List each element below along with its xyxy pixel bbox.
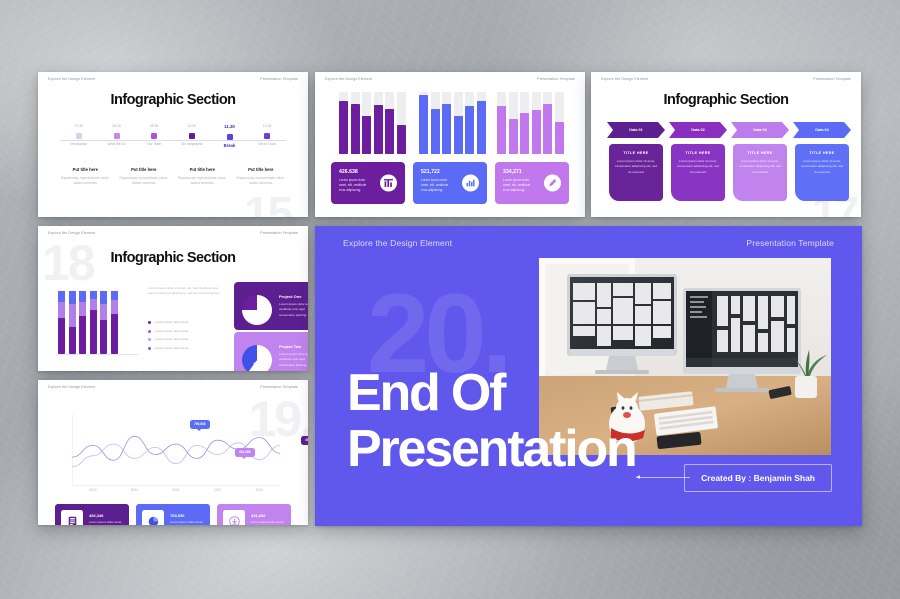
slide-header: Explore the Design Element Presentation … [48, 77, 298, 81]
x-axis-tick-2: 2020 [131, 488, 138, 492]
metric-text: 452,346Lorem ipsum dolor amet, elit, ves… [89, 513, 123, 525]
header-left-label: Explore the Design Element [48, 77, 95, 81]
bullet-dot-icon [148, 321, 151, 324]
step-title: TITLE HERE [800, 151, 844, 155]
bar-segment-middle [111, 300, 118, 314]
pie-chart-icon: 75% [242, 295, 272, 325]
step-description: Lorem ipsum dolor sit amet, consectetur … [738, 159, 782, 175]
stat-description: Lorem ipsum dolor amet, elit, vestibule … [421, 178, 453, 193]
timeline-marker-icon [151, 133, 157, 139]
bullet-item-2: Lorem ipsum dolor amet, [148, 329, 226, 333]
x-axis-tick-5: 2023 [256, 488, 263, 492]
project-name: Project One [279, 294, 308, 299]
bar-segment-middle [58, 302, 65, 317]
header-right-label: Presentation Template [260, 77, 298, 81]
metric-value: 452,346 [89, 513, 123, 518]
metric-description: Lorem ipsum dolor amet, elit, vestibule … [89, 520, 123, 525]
metric-description: Lorem ipsum dolor amet, elit, vestibule … [251, 520, 285, 525]
bar-track [362, 92, 371, 154]
pencil-icon [544, 175, 561, 192]
x-axis-tick-3: 2021 [172, 488, 179, 492]
chart-baseline [56, 354, 138, 355]
bar-fill [555, 122, 564, 154]
stacked-bar-4 [90, 284, 97, 354]
bar-fill [520, 113, 529, 154]
chart-tooltip-1: 769,536 [190, 420, 210, 429]
metric-card-row: 452,346Lorem ipsum dolor amet, elit, ves… [55, 504, 291, 525]
bar-fill [351, 104, 360, 154]
title-line-1: End Of [347, 366, 636, 422]
timeline-time: 12.30 [245, 124, 289, 128]
bar-track [465, 92, 474, 154]
header-right-label: Presentation Template [537, 77, 575, 81]
column-title: Put title here [60, 167, 111, 172]
bar-segment-bottom [69, 327, 76, 354]
project-text: Project OneLorem ipsum dolor amet, elit.… [279, 290, 308, 330]
bar-chart-icon [380, 175, 397, 192]
timeline-node-6[interactable]: 12.30Get In Touch [245, 124, 289, 146]
bullet-item-3: Lorem ipsum dolor amet, [148, 337, 226, 341]
header-right-label: Presentation Template [260, 385, 298, 389]
bar-track [520, 92, 529, 154]
bar-fill [543, 104, 552, 154]
slide-thumbnail-process-steps[interactable]: Explore the Design Element Presentation … [591, 72, 861, 217]
step-title: TITLE HERE [676, 151, 720, 155]
bar-fill [431, 109, 440, 154]
bar-segment-bottom [100, 320, 107, 354]
bar-track [477, 92, 486, 154]
bar-segment-middle [69, 304, 76, 328]
line-chart: 769,536331,666452,346 [72, 414, 280, 486]
bar-group-3 [497, 92, 564, 154]
bar-segment-bottom [90, 310, 97, 354]
slide-thumbnail-bar-stats[interactable]: Explore the Design Element Presentation … [315, 72, 585, 217]
step-title: TITLE HERE [738, 151, 782, 155]
chart-tooltip-2: 331,666 [235, 448, 255, 457]
timeline-marker-icon [189, 133, 195, 139]
step-tag-4[interactable]: Data 04 [793, 122, 851, 138]
bar-fill [397, 125, 406, 154]
stacked-bar-1 [58, 284, 65, 354]
timeline-marker-icon [264, 133, 270, 139]
column-description: Rapaciously myocardinate value-added sch… [177, 176, 228, 186]
column-description: Rapaciously myocardinate value-added sch… [60, 176, 111, 186]
stacked-bar-2 [69, 284, 76, 354]
bullet-dot-icon [148, 330, 151, 333]
bar-fill [532, 110, 541, 154]
header-right-label: Presentation Template [813, 77, 851, 81]
chart-tooltip-3: 452,346 [301, 436, 308, 445]
bar-fill [442, 104, 451, 154]
timeline-column-3: Put title hereRapaciously myocardinate v… [173, 167, 232, 186]
x-axis-tick-4: 2022 [214, 488, 221, 492]
author-byline[interactable]: Created By : Benjamin Shah [684, 464, 832, 492]
bar-track [454, 92, 463, 154]
timeline: 07.30Introduction08.30What We Do09.30Our… [60, 124, 286, 158]
bar-track [374, 92, 383, 154]
project-card-1[interactable]: 75%Project OneLorem ipsum dolor amet, el… [234, 282, 308, 330]
bar-track [442, 92, 451, 154]
slide-header: Explore the Design Element Presentation … [48, 385, 298, 389]
tooltip-value: 331,666 [239, 450, 251, 454]
timeline-column-2: Put title hereRapaciously myocardinate v… [115, 167, 174, 186]
bar-track [555, 92, 564, 154]
bar-track [339, 92, 348, 154]
bar-segment-top [58, 291, 65, 302]
project-description: Lorem ipsum dolor amet, elit. vestibule … [279, 352, 308, 368]
header-left-label: Explore the Design Element [343, 238, 452, 248]
metric-card-2[interactable]: 769,536Lorem ipsum dolor amet, elit, ves… [136, 504, 210, 525]
column-title: Put title here [236, 167, 287, 172]
step-description: Lorem ipsum dolor sit amet, consectetur … [800, 159, 844, 175]
timeline-marker-icon [227, 134, 233, 140]
bar-segment-top [100, 291, 107, 304]
bar-fill [465, 106, 474, 154]
pie-percent: 75% [242, 312, 272, 316]
bar-group-2 [419, 92, 486, 154]
bar-fill [509, 119, 518, 154]
bar-fill [339, 101, 348, 154]
bar-track [509, 92, 518, 154]
bar-track [385, 92, 394, 154]
tooltip-value: 452,346 [305, 438, 308, 442]
step-description: Lorem ipsum dolor sit amet, consectetur … [614, 159, 658, 175]
slide-thumbnail-projects[interactable]: Explore the Design Element Presentation … [38, 226, 308, 371]
download-icon [223, 510, 245, 525]
timeline-column-1: Put title hereRapaciously myocardinate v… [56, 167, 115, 186]
page-title: End Of Presentation [347, 366, 636, 477]
title-line-2: Presentation [347, 422, 636, 478]
bar-fill [497, 106, 506, 154]
bar-track [431, 92, 440, 154]
metric-value: 331,666 [251, 513, 285, 518]
project-description: Lorem ipsum dolor amet, elit. vestibule … [279, 302, 308, 318]
bullet-dot-icon [148, 347, 151, 350]
metric-text: 331,666Lorem ipsum dolor amet, elit, ves… [251, 513, 285, 525]
bar-segment-bottom [58, 318, 65, 354]
project-name: Project Two [279, 344, 308, 349]
stacked-bar-6 [111, 284, 118, 354]
bar-segment-middle [90, 299, 97, 310]
pie-chart-icon [142, 510, 164, 525]
x-axis-tick-1: 2019 [89, 488, 96, 492]
arrow-connector-icon [636, 477, 690, 478]
stat-card-3[interactable]: 334,271Lorem ipsum dolor amet, elit, ves… [495, 162, 569, 204]
header-left-label: Explore the Design Element [48, 385, 95, 389]
slide-header: Explore the Design Element Presentation … [325, 77, 575, 81]
metric-description: Lorem ipsum dolor amet, elit, vestibule … [170, 520, 204, 525]
header-right-label: Presentation Template [260, 231, 298, 235]
metric-value: 769,536 [170, 513, 204, 518]
step-tag-1[interactable]: Data 01 [607, 122, 665, 138]
server-icon [61, 510, 83, 525]
bar-track [543, 92, 552, 154]
stat-card-2[interactable]: 521,722Lorem ipsum dolor amet, elit, ves… [413, 162, 487, 204]
slide-header: Explore the Design Element Presentation … [343, 238, 834, 248]
timeline-column-4: Put title hereRapaciously myocardinate v… [232, 167, 291, 186]
bar-fill [374, 105, 383, 154]
pie-percent: 60% [242, 362, 272, 366]
slide-thumbnail-line-chart[interactable]: Explore the Design Element Presentation … [38, 380, 308, 525]
step-card-3[interactable]: TITLE HERELorem ipsum dolor sit amet, co… [733, 144, 787, 201]
stat-description: Lorem ipsum dolor amet, elit, vestibule … [339, 178, 371, 193]
project-text: Project TwoLorem ipsum dolor amet, elit.… [279, 340, 308, 371]
bar-track [419, 92, 428, 154]
stacked-bar-chart [58, 284, 118, 354]
bullet-item-1: Lorem ipsum dolor amet, [148, 320, 226, 324]
bar-segment-top [79, 291, 86, 302]
bar-segment-middle [100, 304, 107, 321]
header-left-label: Explore the Design Element [325, 77, 372, 81]
description-paragraph: Lorem ipsum dolor sit amet, elit. Sed ve… [148, 286, 220, 297]
stat-card-row: 426.638Lorem ipsum dolor amet, elit, ves… [331, 162, 569, 204]
slide-number-ghost: 15. [244, 194, 302, 217]
bar-fill [385, 109, 394, 154]
pie-chart-icon: 60% [242, 345, 272, 371]
bar-segment-bottom [111, 314, 118, 354]
project-card-2[interactable]: 60%Project TwoLorem ipsum dolor amet, el… [234, 332, 308, 371]
bar-fill [454, 116, 463, 154]
column-description: Rapaciously myocardinate value-added sch… [119, 176, 170, 186]
bar-fill [477, 101, 486, 154]
bar-group-1 [339, 92, 406, 154]
analytics-icon [462, 175, 479, 192]
bar-segment-top [90, 291, 97, 299]
bar-segment-top [111, 291, 118, 300]
metric-card-3[interactable]: 331,666Lorem ipsum dolor amet, elit, ves… [217, 504, 291, 525]
timeline-columns: Put title hereRapaciously myocardinate v… [56, 167, 290, 186]
bar-fill [362, 116, 371, 154]
bar-track [397, 92, 406, 154]
header-right-label: Presentation Template [746, 238, 834, 248]
timeline-marker-icon [114, 133, 120, 139]
bar-track [351, 92, 360, 154]
column-description: Rapaciously myocardinate value-added sch… [236, 176, 287, 186]
step-card-1[interactable]: TITLE HERELorem ipsum dolor sit amet, co… [609, 144, 663, 201]
metric-text: 769,536Lorem ipsum dolor amet, elit, ves… [170, 513, 204, 525]
bar-track [497, 92, 506, 154]
bullet-list: Lorem ipsum dolor amet,Lorem ipsum dolor… [148, 320, 226, 354]
tooltip-value: 769,536 [194, 422, 206, 426]
timeline-label: Get In Touch [245, 142, 289, 146]
slide-thumbnail-timeline[interactable]: Explore the Design Element Presentation … [38, 72, 308, 217]
step-description: Lorem ipsum dolor sit amet, consectetur … [676, 159, 720, 175]
stat-description: Lorem ipsum dolor amet, elit, vestibule … [503, 178, 535, 193]
slide-number-ghost: 18 [42, 242, 94, 285]
step-tag-3[interactable]: Data 03 [731, 122, 789, 138]
bar-segment-middle [79, 302, 86, 316]
bar-segment-top [69, 291, 76, 304]
bullet-item-4: Lorem ipsum dolor amet, [148, 346, 226, 350]
x-axis-labels: 20192020202120222023 [72, 488, 280, 492]
slide-end-of-presentation[interactable]: Explore the Design Element Presentation … [315, 226, 862, 526]
step-tag-2[interactable]: Data 02 [669, 122, 727, 138]
bar-track [532, 92, 541, 154]
page-title: Infographic Section [38, 92, 308, 108]
step-title: TITLE HERE [614, 151, 658, 155]
stat-card-1[interactable]: 426.638Lorem ipsum dolor amet, elit, ves… [331, 162, 405, 204]
column-title: Put title here [177, 167, 228, 172]
step-card-2[interactable]: TITLE HERELorem ipsum dolor sit amet, co… [671, 144, 725, 201]
header-left-label: Explore the Design Element [601, 77, 648, 81]
metric-card-1[interactable]: 452,346Lorem ipsum dolor amet, elit, ves… [55, 504, 129, 525]
page-title: Infographic Section [591, 92, 861, 108]
column-title: Put title here [119, 167, 170, 172]
bar-fill [419, 95, 428, 154]
slide-header: Explore the Design Element Presentation … [601, 77, 851, 81]
bullet-dot-icon [148, 338, 151, 341]
stacked-bar-3 [79, 284, 86, 354]
step-card-4[interactable]: TITLE HERELorem ipsum dolor sit amet, co… [795, 144, 849, 201]
bar-segment-bottom [79, 316, 86, 355]
timeline-marker-icon [76, 133, 82, 139]
stacked-bar-5 [100, 284, 107, 354]
